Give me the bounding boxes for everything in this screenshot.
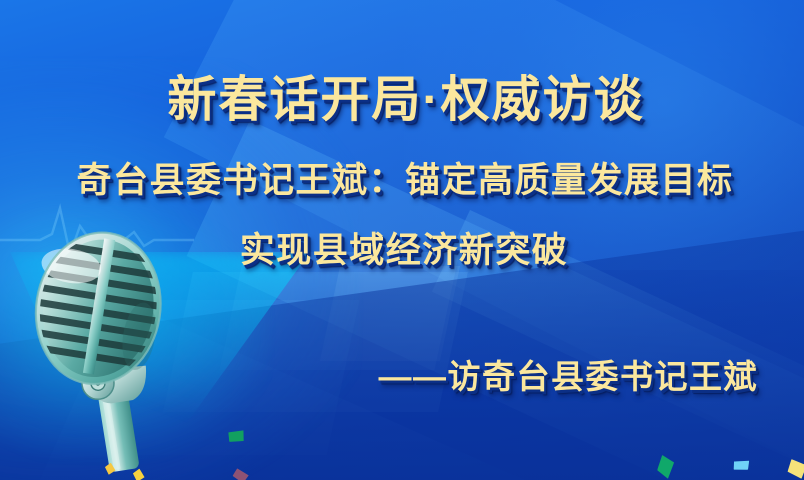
attribution-line: ——访奇台县委书记王斌 <box>379 350 759 398</box>
news-banner-poster: 新春话开局·权威访谈 奇台县委书记王斌：锚定高质量发展目标 实现县域经济新突破 … <box>0 0 804 480</box>
subtitle-line-1: 奇台县委书记王斌：锚定高质量发展目标 <box>0 152 804 203</box>
main-title: 新春话开局·权威访谈 <box>0 60 804 131</box>
headline-text-layer: 新春话开局·权威访谈 奇台县委书记王斌：锚定高质量发展目标 实现县域经济新突破 … <box>0 0 804 480</box>
subtitle-line-2: 实现县域经济新突破 <box>0 222 804 273</box>
